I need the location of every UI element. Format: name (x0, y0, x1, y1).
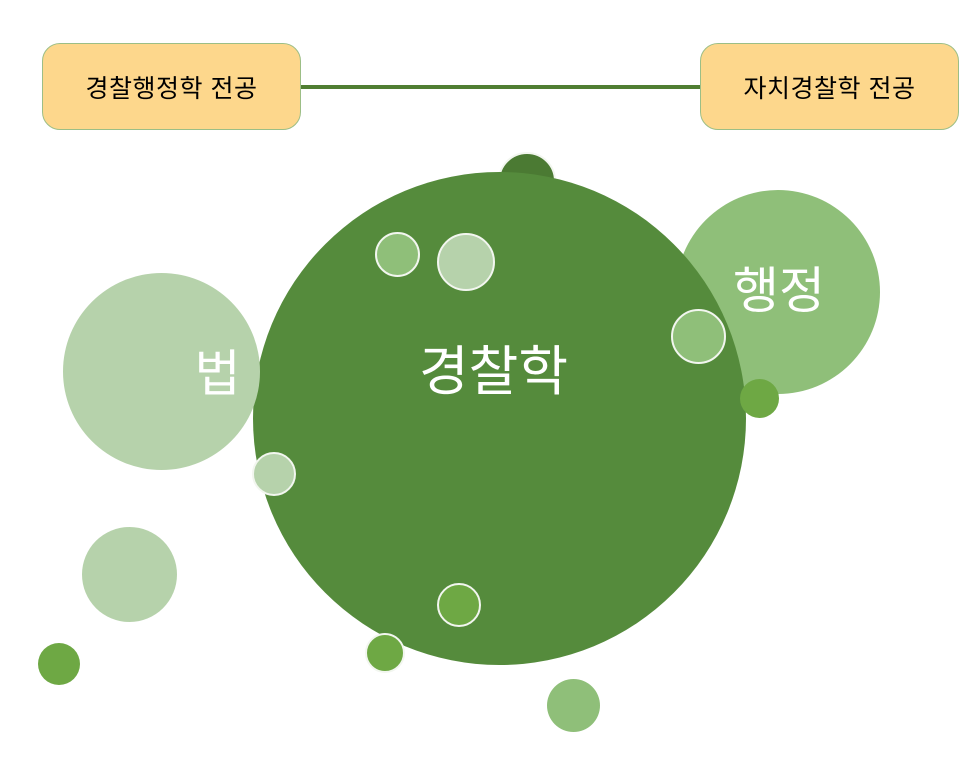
major-box-police-administration[interactable]: 경찰행정학 전공 (42, 43, 301, 130)
bubble-left-pale (252, 452, 296, 496)
bubble-law-label: 법 (195, 334, 241, 406)
bubble-right-lime (740, 379, 779, 418)
bubble-administration-label: 행정 (733, 251, 825, 323)
bubble-sw-lime (38, 643, 80, 685)
major-box-label: 경찰행정학 전공 (86, 69, 258, 105)
bubble-bottom-small (365, 633, 405, 673)
bubble-right-mid (671, 309, 726, 364)
bubble-law[interactable]: 법 (63, 273, 260, 470)
diagram-canvas: 경찰행정학 전공 자치경찰학 전공 행정 경찰학 법 (0, 0, 979, 760)
bubble-upper-mid (375, 232, 420, 277)
bubble-bottom-free (547, 679, 600, 732)
bubble-police-studies-label: 경찰학 (419, 327, 568, 406)
major-box-autonomous-police[interactable]: 자치경찰학 전공 (700, 43, 959, 130)
bubble-bottom-lime (437, 583, 481, 627)
bubble-upper-pale (437, 233, 495, 291)
bubble-sw-pale (82, 527, 177, 622)
bubble-police-studies[interactable]: 경찰학 (253, 172, 746, 665)
major-connector-line (299, 85, 701, 89)
major-box-label: 자치경찰학 전공 (744, 69, 916, 105)
